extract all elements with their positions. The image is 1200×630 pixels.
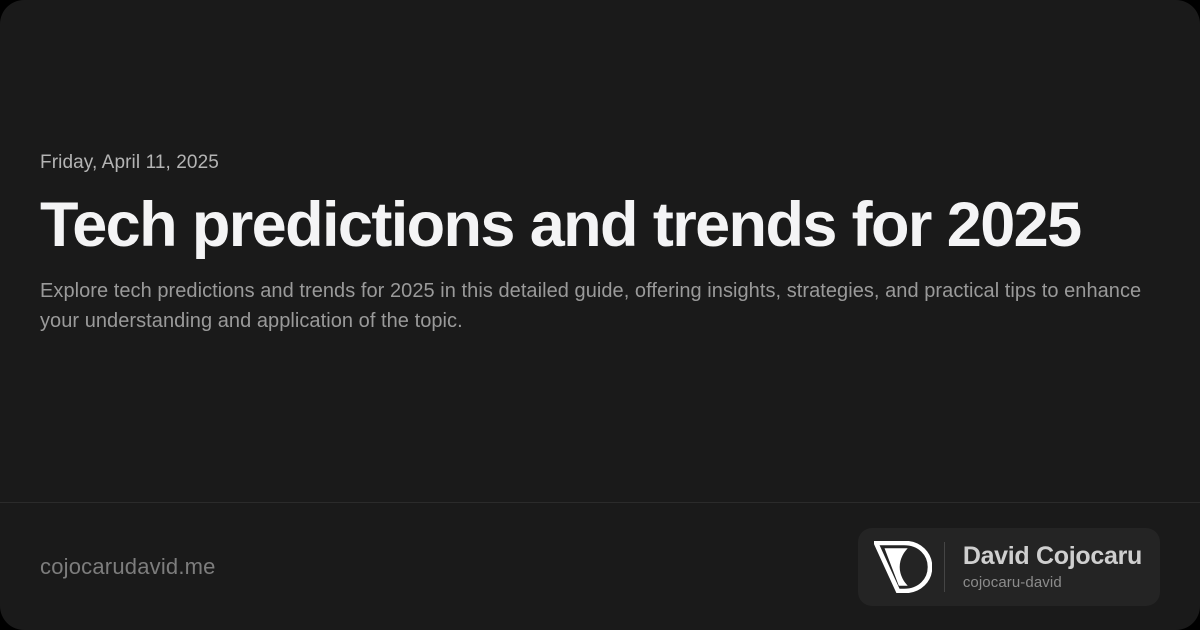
page-title: Tech predictions and trends for 2025 (40, 190, 1160, 260)
author-name: David Cojocaru (963, 541, 1142, 571)
post-description: Explore tech predictions and trends for … (40, 276, 1145, 336)
letter-d-logo-icon (872, 540, 934, 594)
author-badge: David Cojocaru cojocaru-david (858, 528, 1160, 606)
card-footer: cojocarudavid.me David Cojocaru cojocaru… (0, 503, 1200, 630)
badge-divider (944, 542, 945, 592)
site-url: cojocarudavid.me (40, 554, 216, 580)
post-date: Friday, April 11, 2025 (40, 150, 1160, 176)
post-content: Friday, April 11, 2025 Tech predictions … (40, 150, 1160, 336)
author-info: David Cojocaru cojocaru-david (963, 541, 1142, 593)
author-handle: cojocaru-david (963, 573, 1142, 593)
og-preview-card: Friday, April 11, 2025 Tech predictions … (0, 0, 1200, 630)
